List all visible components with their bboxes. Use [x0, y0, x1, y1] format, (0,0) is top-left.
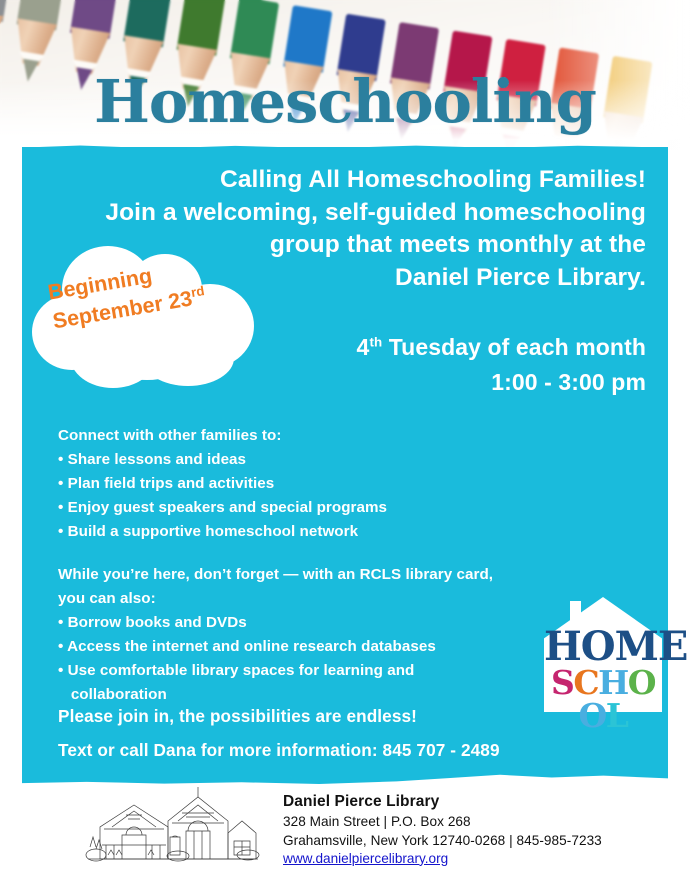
meeting-day-number: 4: [357, 334, 370, 360]
header-banner: Homeschooling: [0, 0, 690, 150]
closing-block: Please join in, the possibilities are en…: [58, 700, 618, 767]
flyer-title: Homeschooling: [0, 72, 690, 131]
card-perks-lead-2: you can also:: [58, 587, 558, 611]
card-perks-list: • Borrow books and DVDs • Access the int…: [58, 611, 558, 707]
logo-school-letter: S: [551, 666, 573, 699]
section-spacer: [58, 544, 558, 563]
main-blue-panel: Calling All Homeschooling Families! Join…: [22, 147, 668, 787]
list-item: • Enjoy guest speakers and special progr…: [58, 496, 558, 520]
headline-line-2: Join a welcoming, self-guided homeschool…: [50, 197, 646, 230]
pencil-wood: [0, 10, 4, 60]
address-line-1: 328 Main Street | P.O. Box 268: [283, 813, 683, 831]
list-item: • Plan field trips and activities: [58, 472, 558, 496]
list-item: • Share lessons and ideas: [58, 448, 558, 472]
closing-invite: Please join in, the possibilities are en…: [58, 700, 618, 734]
body-copy: Connect with other families to: • Share …: [58, 424, 558, 707]
library-website-link[interactable]: www.danielpiercelibrary.org: [283, 850, 683, 868]
logo-school-letter: L: [606, 699, 628, 732]
logo-school-letter: C: [573, 666, 598, 699]
beginning-date-cloud-badge: Beginning September 23rd: [32, 244, 264, 391]
logo-school-letter: O: [628, 666, 655, 699]
meeting-day: 4th Tuesday of each month: [357, 330, 646, 365]
library-name: Daniel Pierce Library: [283, 791, 683, 813]
meeting-schedule: 4th Tuesday of each month 1:00 - 3:00 pm: [357, 330, 646, 400]
cloud-ordinal-suffix: rd: [190, 283, 206, 300]
list-item: • Borrow books and DVDs: [58, 611, 558, 635]
card-perks-lead-1: While you’re here, don’t forget — with a…: [58, 563, 558, 587]
home-school-logo: HOME SCHOOL: [544, 597, 662, 712]
logo-home-word: HOME: [544, 627, 662, 667]
meeting-day-rest: Tuesday of each month: [382, 334, 646, 360]
footer: Daniel Pierce Library 328 Main Street | …: [0, 790, 690, 893]
meeting-time: 1:00 - 3:00 pm: [357, 365, 646, 400]
headline-line-1: Calling All Homeschooling Families!: [50, 164, 646, 197]
connect-lead: Connect with other families to:: [58, 424, 558, 448]
connect-list: • Share lessons and ideas • Plan field t…: [58, 448, 558, 544]
logo-school-letter: H: [598, 666, 628, 699]
cloud-puff: [142, 330, 234, 386]
logo-school-letter: O: [579, 699, 606, 732]
address-line-2: Grahamsville, New York 12740-0268 | 845-…: [283, 832, 683, 850]
library-building-illustration: [82, 785, 262, 873]
logo-school-word: SCHOOL: [544, 666, 662, 732]
footer-contact-block: Daniel Pierce Library 328 Main Street | …: [283, 791, 683, 868]
homeschooling-flyer: Homeschooling Calling All Homeschooling …: [0, 0, 690, 893]
contact-line: Text or call Dana for more information: …: [58, 734, 618, 768]
ordinal-suffix: th: [369, 334, 382, 349]
list-item: • Access the internet and online researc…: [58, 635, 558, 659]
list-item: • Build a supportive homeschool network: [58, 520, 558, 544]
